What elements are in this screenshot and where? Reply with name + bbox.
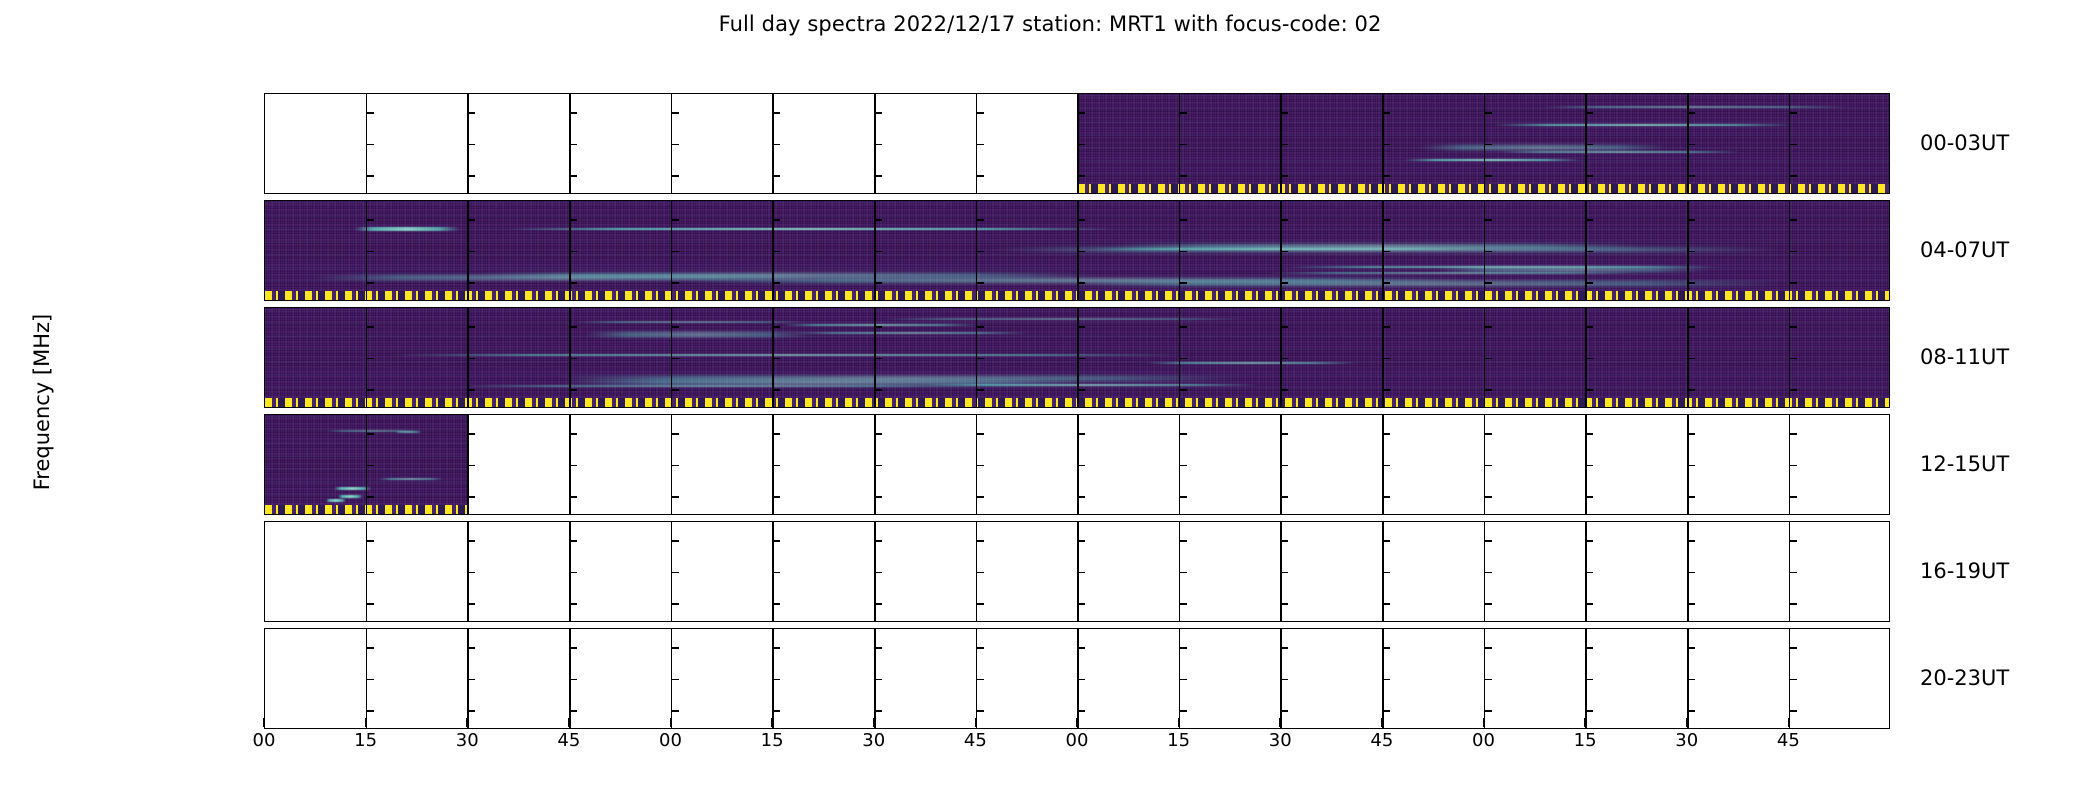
y-tick-mark: [1382, 647, 1390, 649]
y-tick-mark: [772, 465, 780, 467]
x-tick-mark: [1076, 718, 1078, 727]
y-tick-mark: [1687, 603, 1695, 605]
y-tick-mark: [874, 540, 882, 542]
panel-separator: [1687, 522, 1689, 621]
spectrogram-figure: Full day spectra 2022/12/17 station: MRT…: [0, 0, 2100, 800]
y-tick-mark: [772, 572, 780, 574]
panel-separator: [366, 522, 368, 621]
y-tick-mark: [874, 572, 882, 574]
spectra-noise: [265, 308, 1890, 407]
y-tick-mark: [772, 144, 780, 146]
y-tick-mark: [1382, 679, 1390, 681]
y-tick-mark: [467, 710, 475, 712]
x-tick-label: 45: [1777, 730, 1800, 751]
emission-streak: [327, 430, 421, 432]
panel-separator: [671, 415, 673, 514]
y-tick-mark: [1077, 647, 1085, 649]
panel-separator: [976, 629, 978, 728]
emission-streak: [791, 332, 1030, 334]
y-tick-mark: [1789, 603, 1797, 605]
y-tick-mark: [467, 175, 475, 177]
y-tick-mark: [1382, 572, 1390, 574]
spectrogram-row: [264, 628, 1890, 729]
y-tick-mark: [1077, 679, 1085, 681]
x-tick-label: 45: [557, 730, 580, 751]
y-tick-mark: [1280, 433, 1288, 435]
y-tick-mark: [1687, 540, 1695, 542]
emission-streak: [585, 332, 811, 337]
y-tick-mark: [772, 496, 780, 498]
x-tick-mark: [1584, 718, 1586, 727]
emission-streak: [326, 499, 346, 502]
y-tick-mark: [467, 647, 475, 649]
saturated-channel-band: [1078, 184, 1890, 193]
x-tick-mark: [568, 718, 570, 727]
y-tick-mark: [874, 433, 882, 435]
x-tick-label: 00: [1472, 730, 1495, 751]
y-tick-mark: [569, 112, 577, 114]
y-tick-mark: [874, 679, 882, 681]
panel-separators: [265, 629, 1889, 728]
y-tick-mark: [1789, 465, 1797, 467]
emission-streak: [338, 495, 362, 498]
x-tick-mark: [263, 718, 265, 727]
x-tick-label: 00: [1066, 730, 1089, 751]
y-tick-mark: [1382, 496, 1390, 498]
row-label-08-11ut: 08-11UT: [1920, 345, 2009, 369]
y-tick-mark: [1789, 710, 1797, 712]
x-tick-label: 15: [1167, 730, 1190, 751]
x-tick-mark: [1788, 718, 1790, 727]
spectra-data-region: [265, 201, 1890, 300]
y-tick-mark: [569, 710, 577, 712]
panel-separator: [976, 522, 978, 621]
panel-separator: [1179, 415, 1181, 514]
y-tick-mark: [467, 603, 475, 605]
y-tick-mark: [1077, 433, 1085, 435]
y-tick-mark: [1789, 572, 1797, 574]
y-tick-mark: [1585, 433, 1593, 435]
y-tick-mark: [467, 496, 475, 498]
panel-separator: [467, 522, 469, 621]
panel-separator: [772, 629, 774, 728]
x-tick-label: 00: [659, 730, 682, 751]
panel-separator: [976, 94, 978, 193]
panel-separator: [1179, 522, 1181, 621]
panel-separator: [874, 629, 876, 728]
y-tick-mark: [772, 540, 780, 542]
emission-streak: [781, 324, 980, 326]
y-tick-mark: [1789, 647, 1797, 649]
y-tick-mark: [671, 603, 679, 605]
panel-separator: [1382, 629, 1384, 728]
x-tick-mark: [771, 718, 773, 727]
saturated-channel-band: [265, 398, 1890, 407]
x-tick-label: 15: [761, 730, 784, 751]
y-tick-mark: [366, 647, 374, 649]
y-tick-mark: [1179, 679, 1187, 681]
y-tick-mark: [366, 572, 374, 574]
emission-streak: [354, 227, 460, 231]
x-tick-mark: [1686, 718, 1688, 727]
y-tick-mark: [874, 603, 882, 605]
panel-separator: [1382, 522, 1384, 621]
y-tick-mark: [1382, 603, 1390, 605]
y-tick-mark: [772, 710, 780, 712]
y-tick-mark: [1687, 710, 1695, 712]
panel-separator: [569, 415, 571, 514]
x-tick-label: 45: [964, 730, 987, 751]
y-tick-mark: [1585, 540, 1593, 542]
x-tick-mark: [466, 718, 468, 727]
y-axis-label-text: Frequency [MHz]: [30, 252, 54, 552]
panel-separator: [1687, 415, 1689, 514]
emission-streak: [458, 385, 986, 387]
emission-streak: [1419, 145, 1666, 150]
y-tick-mark: [1484, 433, 1492, 435]
y-tick-mark: [671, 144, 679, 146]
spectrogram-row: [264, 200, 1890, 301]
x-tick-label: 15: [1574, 730, 1597, 751]
y-tick-mark: [976, 572, 984, 574]
y-tick-mark: [467, 572, 475, 574]
panel-separator: [467, 629, 469, 728]
panel-separator: [874, 415, 876, 514]
panel-separator: [1789, 522, 1791, 621]
x-tick-label: 30: [1269, 730, 1292, 751]
panel-separators: [265, 522, 1889, 621]
y-tick-mark: [1382, 433, 1390, 435]
y-tick-mark: [467, 112, 475, 114]
y-tick-mark: [1585, 647, 1593, 649]
x-tick-label: 00: [253, 730, 276, 751]
y-tick-mark: [1484, 647, 1492, 649]
panel-separator: [671, 94, 673, 193]
emission-streak: [387, 354, 1191, 356]
y-tick-mark: [1484, 465, 1492, 467]
panel-separator: [1585, 629, 1587, 728]
y-tick-mark: [1179, 496, 1187, 498]
y-tick-mark: [366, 679, 374, 681]
emission-streak: [881, 318, 1248, 320]
emission-streak: [576, 321, 806, 323]
spectrogram-row: [264, 521, 1890, 622]
y-tick-mark: [671, 112, 679, 114]
y-tick-mark: [1280, 603, 1288, 605]
panel-separator: [1077, 629, 1079, 728]
y-tick-mark: [1077, 540, 1085, 542]
y-tick-mark: [874, 465, 882, 467]
y-tick-mark: [1280, 496, 1288, 498]
y-tick-mark: [1789, 433, 1797, 435]
panel-separator: [874, 522, 876, 621]
emission-streak: [379, 478, 443, 480]
spectrogram-row: [264, 414, 1890, 515]
spectra-data-region: [265, 308, 1890, 407]
emission-streak: [1404, 159, 1581, 161]
panel-separator: [366, 629, 368, 728]
panel-separator: [467, 94, 469, 193]
emission-streak: [557, 376, 1239, 381]
y-tick-mark: [1484, 540, 1492, 542]
y-tick-mark: [1484, 496, 1492, 498]
row-label-16-19ut: 16-19UT: [1920, 559, 2009, 583]
y-tick-mark: [366, 144, 374, 146]
panel-separator: [569, 629, 571, 728]
y-tick-mark: [366, 603, 374, 605]
y-tick-mark: [1179, 540, 1187, 542]
page-title: Full day spectra 2022/12/17 station: MRT…: [0, 12, 2100, 36]
panel-separator: [1484, 629, 1486, 728]
y-tick-mark: [772, 433, 780, 435]
spectra-data-region: [265, 415, 468, 514]
y-tick-mark: [569, 144, 577, 146]
panel-separator: [1077, 415, 1079, 514]
y-tick-mark: [569, 496, 577, 498]
emission-streak: [1498, 151, 1741, 153]
y-tick-mark: [1789, 540, 1797, 542]
x-tick-label: 30: [862, 730, 885, 751]
y-tick-mark: [1382, 465, 1390, 467]
panel-separator: [1077, 522, 1079, 621]
y-tick-mark: [976, 679, 984, 681]
y-tick-mark: [671, 679, 679, 681]
y-tick-mark: [976, 647, 984, 649]
x-tick-label: 30: [1675, 730, 1698, 751]
row-label-04-07ut: 04-07UT: [1920, 238, 2009, 262]
y-tick-mark: [1484, 603, 1492, 605]
y-tick-mark: [569, 572, 577, 574]
y-tick-mark: [1789, 679, 1797, 681]
emission-streak: [475, 273, 1095, 278]
y-tick-mark: [1077, 465, 1085, 467]
emission-streak: [509, 228, 1112, 230]
y-tick-mark: [1179, 572, 1187, 574]
y-tick-mark: [976, 433, 984, 435]
y-tick-mark: [1280, 540, 1288, 542]
spectra-data-region: [1078, 94, 1890, 193]
y-tick-mark: [1687, 465, 1695, 467]
x-tick-mark: [1381, 718, 1383, 727]
x-tick-mark: [670, 718, 672, 727]
panel-separator: [1687, 629, 1689, 728]
panel-separator: [1382, 415, 1384, 514]
y-tick-mark: [366, 710, 374, 712]
y-tick-mark: [874, 496, 882, 498]
panel-separator: [874, 94, 876, 193]
y-tick-mark: [467, 540, 475, 542]
panel-separator: [976, 415, 978, 514]
y-tick-mark: [1789, 496, 1797, 498]
y-tick-mark: [1484, 572, 1492, 574]
y-tick-mark: [467, 433, 475, 435]
panel-separator: [1789, 415, 1791, 514]
y-tick-mark: [772, 679, 780, 681]
y-tick-mark: [976, 144, 984, 146]
x-tick-mark: [1178, 718, 1180, 727]
panel-separator: [772, 94, 774, 193]
y-tick-mark: [976, 710, 984, 712]
y-tick-mark: [467, 465, 475, 467]
y-tick-mark: [1687, 647, 1695, 649]
y-tick-mark: [772, 647, 780, 649]
y-tick-mark: [1687, 496, 1695, 498]
x-tick-label: 45: [1370, 730, 1393, 751]
y-tick-mark: [874, 144, 882, 146]
y-tick-mark: [366, 540, 374, 542]
y-tick-mark: [569, 647, 577, 649]
y-tick-mark: [1179, 603, 1187, 605]
x-tick-mark: [1483, 718, 1485, 727]
y-tick-mark: [569, 175, 577, 177]
y-tick-mark: [671, 496, 679, 498]
y-tick-mark: [1687, 433, 1695, 435]
emission-streak: [1146, 362, 1357, 364]
y-tick-mark: [1280, 572, 1288, 574]
y-tick-mark: [1585, 603, 1593, 605]
y-tick-mark: [1382, 710, 1390, 712]
panel-separator: [1585, 415, 1587, 514]
y-tick-mark: [1280, 647, 1288, 649]
y-tick-mark: [1585, 496, 1593, 498]
panel-separator: [772, 415, 774, 514]
y-tick-mark: [976, 540, 984, 542]
emission-streak: [334, 487, 371, 490]
panel-separator: [1280, 629, 1282, 728]
panel-separator: [1179, 629, 1181, 728]
x-tick-label: 30: [456, 730, 479, 751]
y-tick-mark: [874, 112, 882, 114]
y-tick-mark: [1687, 572, 1695, 574]
y-tick-mark: [569, 465, 577, 467]
y-tick-mark: [1077, 603, 1085, 605]
y-tick-mark: [671, 433, 679, 435]
y-tick-mark: [671, 572, 679, 574]
y-tick-mark: [874, 647, 882, 649]
y-tick-mark: [1077, 710, 1085, 712]
y-tick-mark: [569, 603, 577, 605]
y-tick-mark: [1585, 710, 1593, 712]
emission-streak: [1269, 272, 1639, 274]
y-tick-mark: [671, 647, 679, 649]
panel-separator: [1484, 522, 1486, 621]
x-tick-label: 15: [354, 730, 377, 751]
y-tick-mark: [772, 603, 780, 605]
y-tick-mark: [976, 465, 984, 467]
y-tick-mark: [1179, 647, 1187, 649]
y-tick-mark: [976, 496, 984, 498]
y-tick-mark: [1585, 465, 1593, 467]
y-tick-mark: [1077, 572, 1085, 574]
y-tick-mark: [874, 710, 882, 712]
row-label-12-15ut: 12-15UT: [1920, 452, 2009, 476]
panel-separator: [1585, 522, 1587, 621]
y-tick-mark: [976, 603, 984, 605]
x-tick-mark: [365, 718, 367, 727]
y-tick-mark: [1687, 679, 1695, 681]
y-tick-mark: [366, 175, 374, 177]
y-tick-mark: [976, 112, 984, 114]
saturated-channel-band: [265, 291, 1890, 300]
emission-streak: [1288, 266, 1720, 268]
y-tick-mark: [1484, 710, 1492, 712]
y-tick-mark: [671, 540, 679, 542]
saturated-channel-band: [265, 505, 468, 514]
panel-separator: [1280, 522, 1282, 621]
y-tick-mark: [1179, 433, 1187, 435]
y-tick-mark: [1585, 572, 1593, 574]
y-tick-mark: [1280, 710, 1288, 712]
spectrogram-row: [264, 307, 1890, 408]
emission-streak: [1543, 106, 1847, 108]
panel-separators: [265, 415, 1889, 514]
y-tick-mark: [976, 175, 984, 177]
x-axis: 00153045001530450015304500153045: [264, 718, 1890, 758]
panel-separator: [366, 94, 368, 193]
y-tick-mark: [569, 433, 577, 435]
y-tick-mark: [671, 465, 679, 467]
y-tick-mark: [467, 144, 475, 146]
y-tick-mark: [1484, 679, 1492, 681]
y-tick-mark: [1280, 679, 1288, 681]
y-tick-mark: [671, 710, 679, 712]
panel-separator: [569, 522, 571, 621]
y-tick-mark: [1382, 540, 1390, 542]
panel-separator: [1484, 415, 1486, 514]
y-tick-mark: [1280, 465, 1288, 467]
y-tick-mark: [366, 112, 374, 114]
y-tick-mark: [874, 175, 882, 177]
row-label-20-23ut: 20-23UT: [1920, 666, 2009, 690]
spectrogram-row: [264, 93, 1890, 194]
panel-separator: [1280, 415, 1282, 514]
y-tick-mark: [772, 175, 780, 177]
spectra-noise: [1078, 94, 1890, 193]
y-tick-mark: [1077, 496, 1085, 498]
y-tick-mark: [1585, 679, 1593, 681]
y-tick-mark: [569, 679, 577, 681]
y-tick-mark: [772, 112, 780, 114]
panel-separator: [671, 629, 673, 728]
y-tick-mark: [671, 175, 679, 177]
x-tick-mark: [1279, 718, 1281, 727]
x-tick-mark: [873, 718, 875, 727]
y-tick-mark: [1179, 465, 1187, 467]
y-tick-mark: [467, 679, 475, 681]
y-tick-mark: [569, 540, 577, 542]
row-label-00-03ut: 00-03UT: [1920, 131, 2009, 155]
panel-separator: [1789, 629, 1791, 728]
emission-streak: [1493, 124, 1794, 126]
x-tick-mark: [975, 718, 977, 727]
panel-separator: [671, 522, 673, 621]
emission-streak: [992, 247, 1781, 252]
y-tick-mark: [1179, 710, 1187, 712]
panel-separator: [569, 94, 571, 193]
panel-separator: [772, 522, 774, 621]
